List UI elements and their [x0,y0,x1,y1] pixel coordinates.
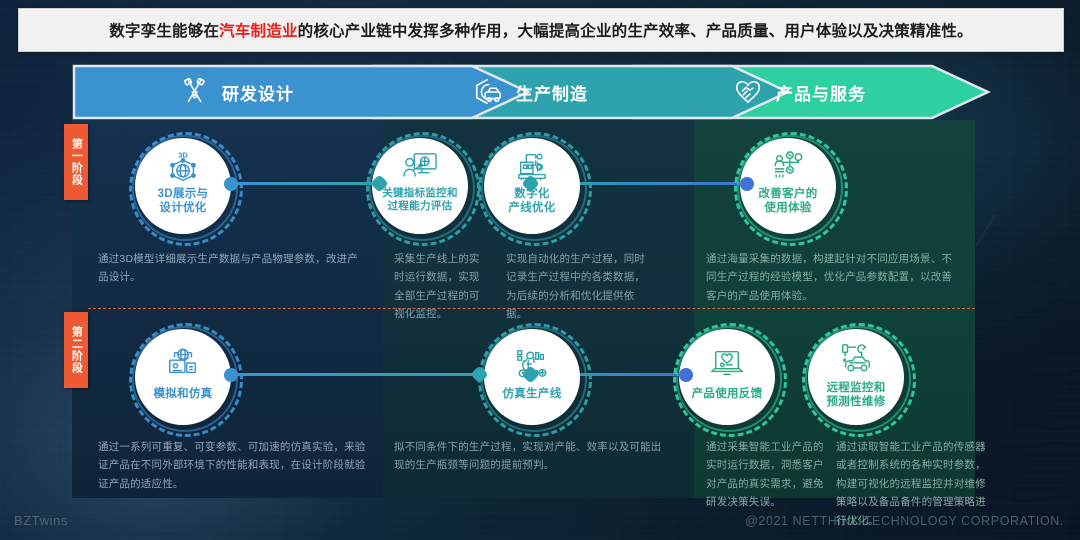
node-description-5: 通过一系列可重复、可变参数、可加速的仿真实验，来验证产品在不同外部环境下的性能和… [98,438,366,493]
node-description-8: 通过读取智能工业产品的传感器或者控制系统的各种实时参数，构建可视化的远程监控并对… [836,438,994,530]
node-customer-experience[interactable]: 改善客户的 使用体验 [740,138,836,234]
node-title: 仿真生产线 [503,387,562,401]
cube-3d-globe-icon: 3D [164,149,202,185]
node-title: 关键指标监控和 过程能力评估 [382,187,458,213]
node-kpi-monitoring[interactable]: 关键指标监控和 过程能力评估 [372,138,468,234]
headline-banner: 数字孪生能够在汽车制造业的核心产业链中发挥多种作用，大幅提高企业的生产效率、产品… [18,8,1064,52]
headline-prefix: 数字孪生能够在 [109,23,219,40]
node-title: 模拟和仿真 [154,387,213,401]
connector-n1-n2 [232,182,380,185]
stage-badge-2: 第二阶段 [64,312,88,388]
node-disc: 远程监控和 预测性维修 [808,329,904,425]
node-usage-feedback[interactable]: 产品使用反馈 [679,329,775,425]
node-description-2: 采集生产线上的实时运行数据，实现全部生产过程的可视化监控。 [394,250,490,324]
headline-highlight: 汽车制造业 [219,23,298,40]
stage-badge-1: 第一阶段 [64,124,88,200]
phase-arrow-ribbon: 研发设计 生产制造 [72,64,992,120]
car-repair-icon [837,341,875,377]
node-disc: 3D 3D展示与 设计优化 [135,138,231,234]
connector-dot-n1 [224,177,238,191]
node-title: 远程监控和 预测性维修 [827,381,886,410]
connector-dot-n7 [679,368,693,382]
simulation-screen-icon [164,345,202,381]
node-title: 数字化 产线优化 [508,187,555,216]
connector-n5-n6 [232,373,484,376]
laptop-feedback-icon [708,345,746,381]
node-disc: 改善客户的 使用体验 [740,138,836,234]
node-description-7: 通过采集智能工业产品的实时运行数据，洞悉客户对产品的真实需求，避免研发决策失误。 [706,438,824,512]
node-3d-display[interactable]: 3D 3D展示与 设计优化 [135,138,231,234]
customer-journey-icon [769,149,807,185]
node-title: 3D展示与 设计优化 [158,187,209,216]
node-description-1: 通过3D模型详细展示生产数据与产品物理参数，改进产品设计。 [98,250,366,287]
node-simulation[interactable]: 模拟和仿真 [135,329,231,425]
node-title: 改善客户的 使用体验 [759,187,818,216]
node-disc: 模拟和仿真 [135,329,231,425]
headline-text: 数字孪生能够在汽车制造业的核心产业链中发挥多种作用，大幅提高企业的生产效率、产品… [109,19,973,41]
node-remote-monitoring[interactable]: 远程监控和 预测性维修 [808,329,904,425]
node-description-4: 通过海量采集的数据，构建起针对不同应用场景、不同生产过程的经验模型，优化产品参数… [706,250,956,305]
slide-canvas: 数字孪生能够在汽车制造业的核心产业链中发挥多种作用，大幅提高企业的生产效率、产品… [0,0,1080,540]
monitor-person-icon [401,149,439,185]
footer-brand: BZTwins [14,513,68,528]
node-description-6: 拟不同条件下的生产过程，实现对产能、效率以及可能出现的生产瓶颈等问题的提前预判。 [394,438,666,475]
node-disc: 关键指标监控和 过程能力评估 [372,138,468,234]
connector-dot-n4 [740,177,754,191]
content-panels: 第一阶段 第二阶段 3D [72,120,975,498]
node-disc: 产品使用反馈 [679,329,775,425]
node-title: 产品使用反馈 [692,387,763,401]
node-description-3: 实现自动化的生产过程，同时记录生产过程中的各类数据，为后续的分析和优化提供依据。 [506,250,654,324]
headline-suffix: 的核心产业链中发挥多种作用，大幅提高企业的生产效率、产品质量、用户体验以及决策精… [298,23,973,40]
connector-dot-n5 [224,368,238,382]
